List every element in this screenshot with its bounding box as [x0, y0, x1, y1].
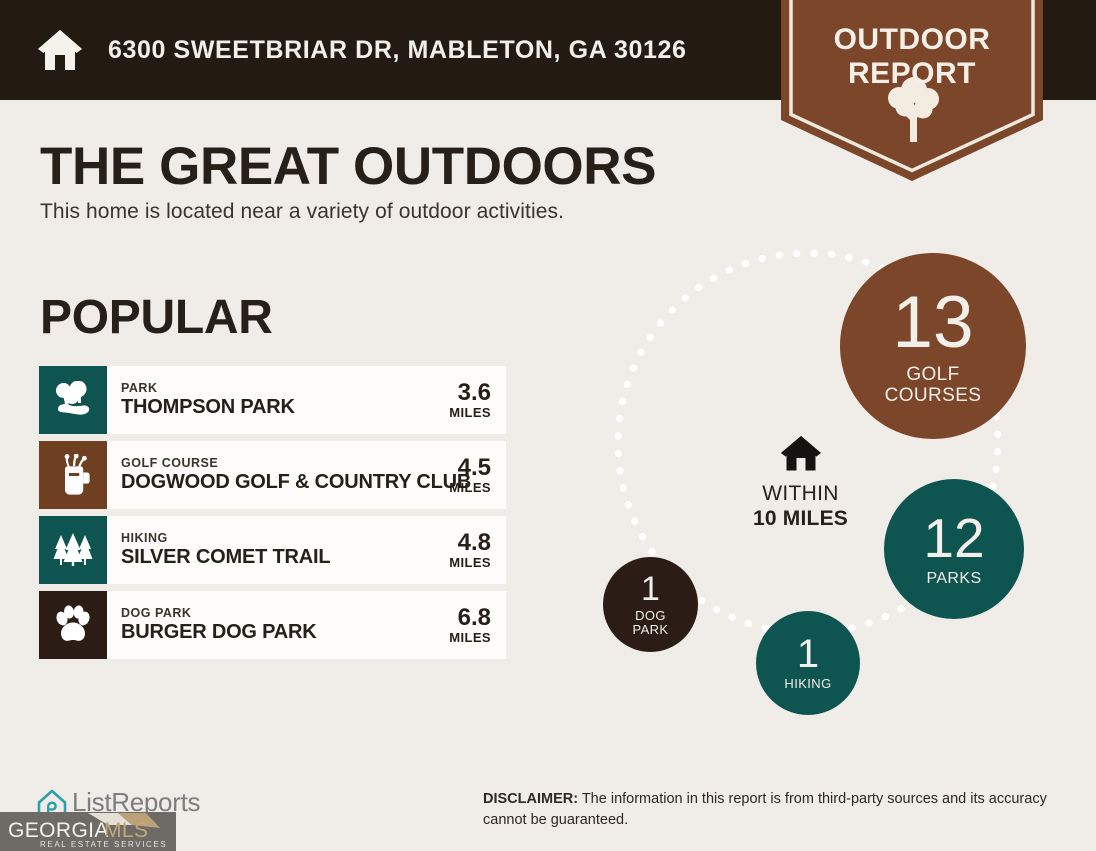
park-trees-icon-tile: [39, 366, 107, 434]
georgia-mls-logo: GEORGIA MLS REAL ESTATE SERVICES: [0, 812, 176, 851]
list-item-text: GOLF COURSE DOGWOOD GOLF & COUNTRY CLUB: [107, 441, 443, 509]
golf-bag-icon: [56, 454, 90, 496]
list-item-distance: 4.5 MILES: [443, 441, 506, 509]
bubble-hiking[interactable]: 1 HIKING: [756, 611, 860, 715]
bubble-label-line2: PARK: [632, 623, 668, 637]
distance-value: 3.6: [458, 380, 491, 405]
golf-bag-icon-tile: [39, 441, 107, 509]
distance-unit: MILES: [449, 555, 491, 571]
bubble-count: 12: [923, 511, 984, 566]
badge-shield-shape: [781, 0, 1043, 181]
page-title: THE GREAT OUTDOORS: [40, 136, 656, 197]
list-item-text: PARK THOMPSON PARK: [107, 366, 443, 434]
popular-section-title: POPULAR: [40, 290, 273, 345]
list-item-category: HIKING: [121, 531, 443, 546]
disclaimer-label: DISCLAIMER:: [483, 791, 578, 807]
pine-trees-icon: [52, 532, 94, 568]
list-item-text: DOG PARK BURGER DOG PARK: [107, 591, 443, 659]
bubble-label-line2: COURSES: [885, 386, 982, 407]
list-item[interactable]: HIKING SILVER COMET TRAIL 4.8 MILES: [39, 516, 506, 584]
list-item-distance: 3.6 MILES: [443, 366, 506, 434]
bubble-chart: 13 GOLF COURSES 12 PARKS 1 HIKING 1 DOG …: [560, 246, 1080, 736]
bubble-golf-courses[interactable]: 13 GOLF COURSES: [840, 253, 1026, 439]
list-item-text: HIKING SILVER COMET TRAIL: [107, 516, 443, 584]
pine-trees-icon-tile: [39, 516, 107, 584]
distance-unit: MILES: [449, 405, 491, 421]
distance-value: 4.8: [458, 530, 491, 555]
chart-center-line1: WITHIN: [762, 482, 838, 506]
chart-center-marker: WITHIN 10 MILES: [728, 435, 873, 531]
bubble-label-line1: DOG: [632, 609, 668, 623]
bubble-label: PARKS: [926, 570, 981, 587]
bubble-label: HIKING: [784, 677, 831, 691]
list-item[interactable]: GOLF COURSE DOGWOOD GOLF & COUNTRY CLUB …: [39, 441, 506, 509]
list-item-name: SILVER COMET TRAIL: [121, 546, 443, 569]
home-icon: [780, 435, 822, 472]
list-item-category: DOG PARK: [121, 606, 443, 621]
list-item-name: THOMPSON PARK: [121, 396, 443, 419]
bubble-parks[interactable]: 12 PARKS: [884, 479, 1024, 619]
distance-unit: MILES: [449, 630, 491, 646]
list-item-distance: 4.8 MILES: [443, 516, 506, 584]
bubble-label: DOG PARK: [632, 609, 668, 637]
list-item-distance: 6.8 MILES: [443, 591, 506, 659]
paw-print-icon: [53, 605, 93, 645]
bubble-dog-park[interactable]: 1 DOG PARK: [603, 557, 698, 652]
bubble-label-line1: GOLF: [885, 365, 982, 386]
list-item-category: PARK: [121, 381, 443, 396]
bubble-count: 1: [641, 572, 660, 606]
distance-value: 6.8: [458, 605, 491, 630]
distance-value: 4.5: [458, 455, 491, 480]
page-subtitle: This home is located near a variety of o…: [40, 200, 564, 224]
svg-text:MLS: MLS: [104, 819, 148, 842]
list-item-name: DOGWOOD GOLF & COUNTRY CLUB: [121, 471, 443, 494]
list-item[interactable]: PARK THOMPSON PARK 3.6 MILES: [39, 366, 506, 434]
list-item-name: BURGER DOG PARK: [121, 621, 443, 644]
popular-list: PARK THOMPSON PARK 3.6 MILES GOLF COURSE: [39, 366, 506, 666]
park-trees-icon: [53, 381, 93, 419]
outdoor-report-badge: OUTDOOR REPORT: [781, 0, 1043, 181]
property-address: 6300 SWEETBRIAR DR, MABLETON, GA 30126: [108, 36, 687, 65]
bubble-count: 1: [797, 634, 819, 674]
list-item-category: GOLF COURSE: [121, 456, 443, 471]
paw-print-icon-tile: [39, 591, 107, 659]
chart-center-line2: 10 MILES: [753, 506, 848, 531]
disclaimer: DISCLAIMER: The information in this repo…: [483, 789, 1063, 831]
home-icon: [36, 28, 84, 72]
list-item[interactable]: DOG PARK BURGER DOG PARK 6.8 MILES: [39, 591, 506, 659]
svg-text:GEORGIA: GEORGIA: [8, 819, 109, 842]
distance-unit: MILES: [449, 480, 491, 496]
bubble-label: GOLF COURSES: [885, 365, 982, 406]
georgia-mls-logo-graphic: GEORGIA MLS REAL ESTATE SERVICES: [0, 812, 176, 851]
bubble-count: 13: [892, 286, 973, 359]
svg-text:REAL ESTATE SERVICES: REAL ESTATE SERVICES: [40, 840, 167, 849]
